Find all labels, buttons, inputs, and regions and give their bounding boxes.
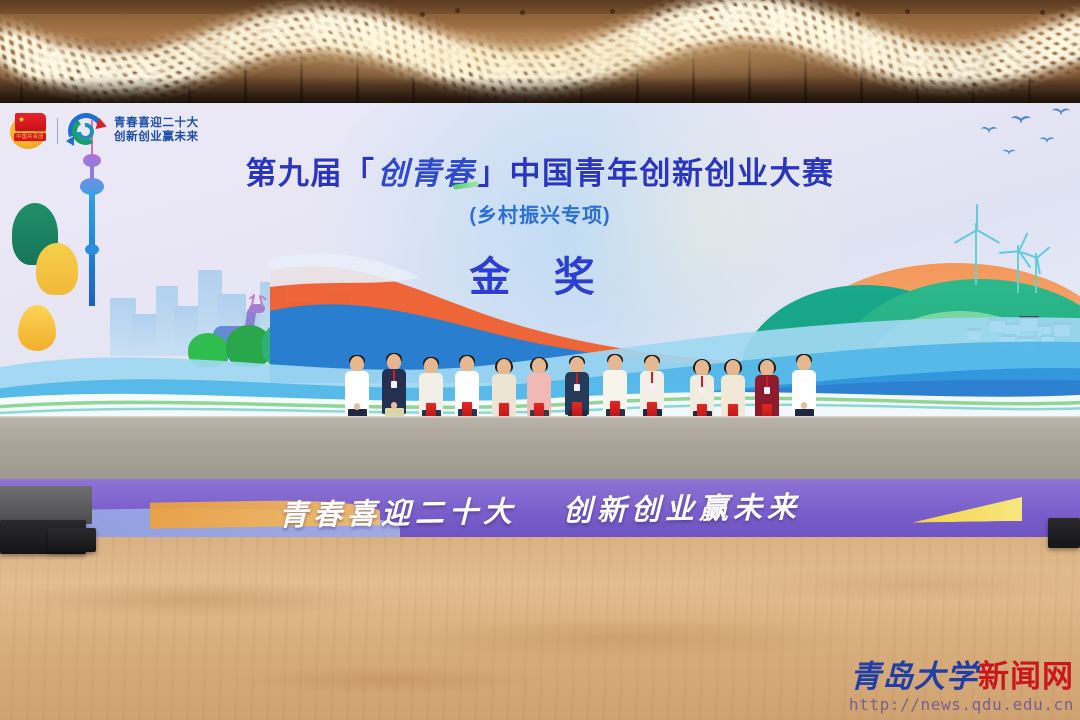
head — [608, 355, 622, 371]
award-label: 金 奖 — [0, 243, 1080, 303]
watermark: 青岛大学新闻网 http://news.qdu.edu.cn — [849, 661, 1074, 714]
bird — [1010, 116, 1032, 126]
skirt-slogan: 青春喜迎二十大 创新创业赢未来 — [0, 479, 1080, 539]
logo-slogan: 青春喜迎二十大 创新创业赢未来 — [114, 117, 199, 144]
skirt-slogan-left: 青春喜迎二十大 — [279, 488, 517, 534]
event-title-brand: 创青春 — [376, 156, 478, 191]
stage-floor — [0, 418, 1080, 484]
bird — [1039, 137, 1055, 144]
watermark-university: 青岛大学 — [850, 659, 978, 695]
head — [726, 360, 740, 376]
head — [460, 356, 474, 372]
backdrop-title-block: 第九届「创青春」中国青年创新创业大赛 (乡村振兴专项) 金 奖 — [0, 157, 1080, 303]
lanyard — [766, 376, 768, 387]
event-subtitle: (乡村振兴专项) — [0, 199, 1080, 228]
bird — [980, 127, 998, 135]
ceiling-shadow — [0, 77, 1080, 103]
event-title-suffix: 」中国青年创新创业大赛 — [477, 156, 835, 191]
bird — [1051, 109, 1071, 118]
communist-youth-league-emblem: ★ 中国共青团 — [10, 111, 50, 151]
watermark-title: 青岛大学新闻网 — [849, 661, 1074, 694]
event-title-prefix: 第九届「 — [246, 156, 376, 191]
head — [760, 360, 774, 376]
hands — [354, 403, 360, 410]
skirt-slogan-right: 创新创业赢未来 — [563, 484, 801, 530]
name-badge — [764, 387, 770, 394]
name-badge — [649, 383, 655, 390]
red-award-certificate — [647, 402, 657, 417]
ceiling — [0, 0, 1080, 103]
name-badge — [391, 381, 397, 388]
head — [497, 359, 511, 375]
watermark-newssite: 新闻网 — [978, 659, 1074, 695]
screenshot-root: ★ 中国共青团 青春喜迎二十大 创新创业赢未来 第九届「创青春」中国青年创新创业… — [0, 0, 1080, 720]
head — [570, 357, 584, 373]
event-logo-block: ★ 中国共青团 青春喜迎二十大 创新创业赢未来 — [10, 111, 199, 151]
chuangqingchun-swirl-logo — [65, 111, 107, 151]
head — [797, 355, 811, 371]
head — [424, 358, 438, 374]
logo-divider — [57, 118, 58, 144]
lanyard — [701, 376, 703, 387]
watermark-url: http://news.qdu.edu.cn — [849, 695, 1074, 714]
name-badge — [574, 384, 580, 391]
lanyard — [393, 370, 395, 381]
head — [695, 360, 709, 376]
head — [645, 356, 659, 372]
hands — [391, 402, 397, 409]
emblem-band-text: 中国共青团 — [14, 133, 46, 141]
logo-slogan-line1: 青春喜迎二十大 — [114, 117, 199, 131]
stage-skirt-banner: 青春喜迎二十大 创新创业赢未来 — [0, 479, 1080, 539]
red-award-certificate — [610, 401, 620, 416]
stage-monitor-left — [48, 528, 96, 552]
red-award-certificate — [462, 402, 472, 417]
name-badge — [699, 387, 705, 394]
head — [532, 358, 546, 374]
logo-slogan-line2: 创新创业赢未来 — [114, 131, 199, 145]
stage-monitor-right — [1048, 518, 1080, 548]
event-title: 第九届「创青春」中国青年创新创业大赛 — [0, 157, 1080, 192]
stage-step-riser — [0, 486, 92, 524]
lanyard — [576, 373, 578, 384]
bird — [1002, 150, 1016, 156]
head — [387, 354, 401, 370]
lanyard — [651, 372, 653, 383]
head — [350, 356, 364, 372]
